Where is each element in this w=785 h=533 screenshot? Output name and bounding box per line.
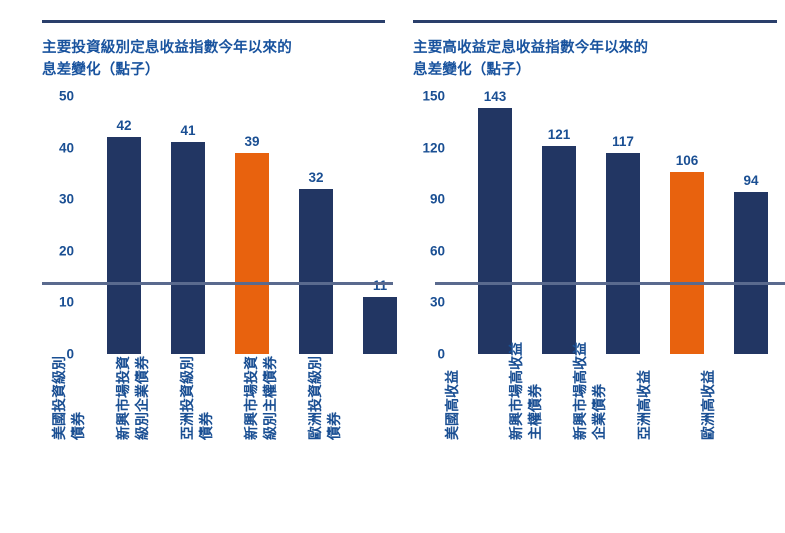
y-axis-tick-label: 30 bbox=[59, 192, 74, 207]
category-label: 新興市場高收益 企業債券 bbox=[571, 290, 635, 442]
category-labels-left: 美國投資級別 債券新興市場投資 級別企業債券亞洲投資級別 債券新興市場投資 級別… bbox=[42, 292, 393, 442]
category-label-slot: 亞洲投資級別 債券 bbox=[178, 292, 242, 442]
chart-panel-investment-grade: 主要投資級別定息收益指數今年以來的 息差變化（點子） 01020304050 4… bbox=[0, 0, 393, 533]
category-label: 美國高收益 bbox=[443, 290, 507, 442]
bar-value-label: 121 bbox=[527, 127, 591, 142]
y-axis-tick-label: 120 bbox=[422, 140, 445, 155]
panel-top-rule-right bbox=[413, 20, 777, 23]
category-label: 亞洲高收益 bbox=[635, 290, 699, 442]
category-label-slot: 新興市場投資 級別主權債券 bbox=[242, 292, 306, 442]
bar-value-label: 94 bbox=[719, 173, 783, 188]
y-axis-tick-label: 150 bbox=[422, 88, 445, 103]
category-label: 新興市場高收益 主權債券 bbox=[507, 290, 571, 442]
dual-bar-chart-page: 主要投資級別定息收益指數今年以來的 息差變化（點子） 01020304050 4… bbox=[0, 0, 785, 533]
category-label: 歐洲高收益 bbox=[699, 290, 763, 442]
panel-top-rule-left bbox=[42, 20, 385, 23]
category-label-slot: 美國投資級別 債券 bbox=[50, 292, 114, 442]
y-axis-tick-label: 40 bbox=[59, 140, 74, 155]
category-label: 美國投資級別 債券 bbox=[50, 290, 114, 442]
bar-value-label: 143 bbox=[463, 89, 527, 104]
category-label: 亞洲投資級別 債券 bbox=[178, 290, 242, 442]
category-label-slot: 歐洲投資級別 債券 bbox=[306, 292, 370, 442]
category-label-slot: 新興市場高收益 企業債券 bbox=[571, 292, 635, 442]
category-label-slot: 新興市場投資 級別企業債券 bbox=[114, 292, 178, 442]
y-axis-tick-label: 50 bbox=[59, 88, 74, 103]
category-label: 新興市場投資 級別主權債券 bbox=[242, 290, 306, 442]
x-axis-line-left bbox=[42, 282, 393, 285]
category-label: 歐洲投資級別 債券 bbox=[306, 290, 370, 442]
y-axis-tick-label: 20 bbox=[59, 243, 74, 258]
chart-panel-high-yield: 主要高收益定息收益指數今年以來的 息差變化（點子） 0306090120150 … bbox=[393, 0, 785, 533]
chart-title-left: 主要投資級別定息收益指數今年以來的 息差變化（點子） bbox=[42, 37, 385, 82]
category-label: 新興市場投資 級別企業債券 bbox=[114, 290, 178, 442]
bar-value-label: 117 bbox=[591, 134, 655, 149]
y-axis-tick-label: 90 bbox=[430, 192, 445, 207]
bar-value-label: 106 bbox=[655, 153, 719, 168]
bar-value-label: 41 bbox=[156, 123, 220, 138]
category-labels-right: 美國高收益新興市場高收益 主權債券新興市場高收益 企業債券亞洲高收益歐洲高收益 bbox=[435, 292, 785, 442]
category-label-slot: 歐洲高收益 bbox=[699, 292, 763, 442]
y-axis-tick-label: 60 bbox=[430, 243, 445, 258]
category-label-slot: 亞洲高收益 bbox=[635, 292, 699, 442]
x-axis-line-right bbox=[435, 282, 785, 285]
bar-value-label: 32 bbox=[284, 170, 348, 185]
category-label-slot: 美國高收益 bbox=[443, 292, 507, 442]
bar-value-label: 39 bbox=[220, 134, 284, 149]
bar-value-label: 42 bbox=[92, 118, 156, 133]
chart-title-right: 主要高收益定息收益指數今年以來的 息差變化（點子） bbox=[413, 37, 777, 82]
category-label-slot: 新興市場高收益 主權債券 bbox=[507, 292, 571, 442]
